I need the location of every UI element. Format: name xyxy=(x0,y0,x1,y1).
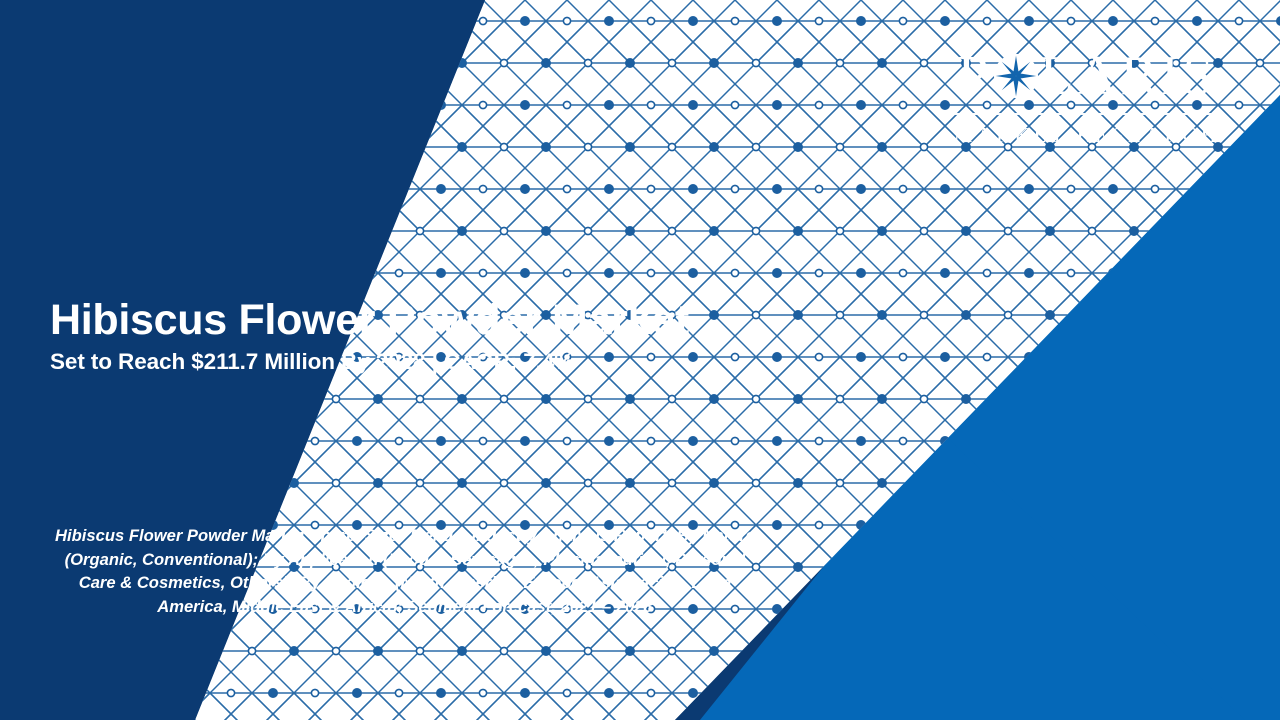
polaris-logo: P LARIS MAR xyxy=(952,48,1222,148)
logo-divider-rule xyxy=(952,113,1222,115)
compass-star-icon xyxy=(993,53,1039,99)
report-description: Hibiscus Flower Powder Market Share, Siz… xyxy=(48,524,762,618)
page-title: Hibiscus Flower Powder Market xyxy=(50,298,689,344)
logo-letters-laris: LARIS xyxy=(1040,48,1217,104)
page-subtitle: Set to Reach $211.7 Million By 2028 | CA… xyxy=(50,349,689,375)
logo-wordmark: P LARIS xyxy=(952,48,1222,104)
report-cover-banner: P LARIS MAR xyxy=(0,0,1280,720)
logo-letter-p: P xyxy=(958,48,992,104)
logo-tagline: MARKET RESEARCH xyxy=(952,123,1222,148)
headline-block: Hibiscus Flower Powder Market Set to Rea… xyxy=(50,298,689,375)
